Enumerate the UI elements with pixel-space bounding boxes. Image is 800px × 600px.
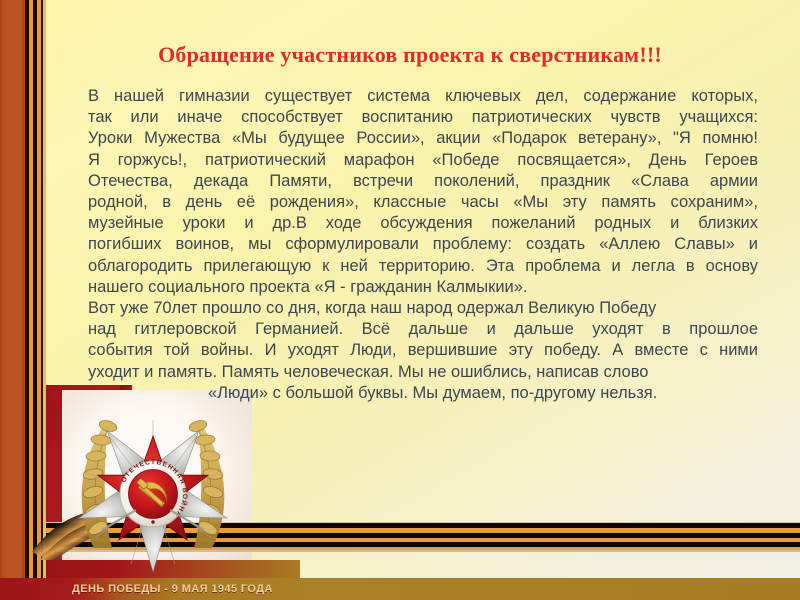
text-line: Отечества, декада Памяти, встречи поколе… bbox=[88, 171, 758, 192]
text-line: нашего социального проекта «Я - граждани… bbox=[88, 277, 758, 298]
text-line: «Люди» с большой буквы. Мы думаем, по-др… bbox=[88, 383, 758, 404]
text-line: Вот уже 70лет прошло со дня, когда наш н… bbox=[88, 298, 758, 319]
text-line: Я горжусь!, патриотический марафон «Побе… bbox=[88, 150, 758, 171]
text-line: музейные уроки и др.В ходе обсуждения по… bbox=[88, 213, 758, 234]
slide-canvas: ОТЕЧЕСТВЕННАЯ ВОЙНА ДЕНЬ ПОБЕДЫ - 9 МАЯ … bbox=[0, 0, 800, 600]
text-line: уходит и память. Память человеческая. Мы… bbox=[88, 362, 758, 383]
text-line: над гитлеровской Германией. Всё дальше и… bbox=[88, 319, 758, 340]
text-line: так или иначе способствует воспитанию па… bbox=[88, 107, 758, 128]
text-line: Уроки Мужества «Мы будущее России», акци… bbox=[88, 128, 758, 149]
text-line: В нашей гимназии существует система ключ… bbox=[88, 86, 758, 107]
body-text: В нашей гимназии существует система ключ… bbox=[88, 86, 758, 404]
victory-banner-text: ДЕНЬ ПОБЕДЫ - 9 МАЯ 1945 ГОДА bbox=[72, 578, 273, 600]
page-title: Обращение участников проекта к сверстник… bbox=[60, 42, 760, 68]
order-of-patriotic-war-medal: ОТЕЧЕСТВЕННАЯ ВОЙНА bbox=[58, 398, 248, 578]
text-line: погибших воинов, мы сформулировали пробл… bbox=[88, 234, 758, 255]
text-line: события той войны. И уходят Люди, вершив… bbox=[88, 340, 758, 361]
text-line: облагородить прилегающую к ней территори… bbox=[88, 256, 758, 277]
text-line: родной, в день её рождения», классные ча… bbox=[88, 192, 758, 213]
